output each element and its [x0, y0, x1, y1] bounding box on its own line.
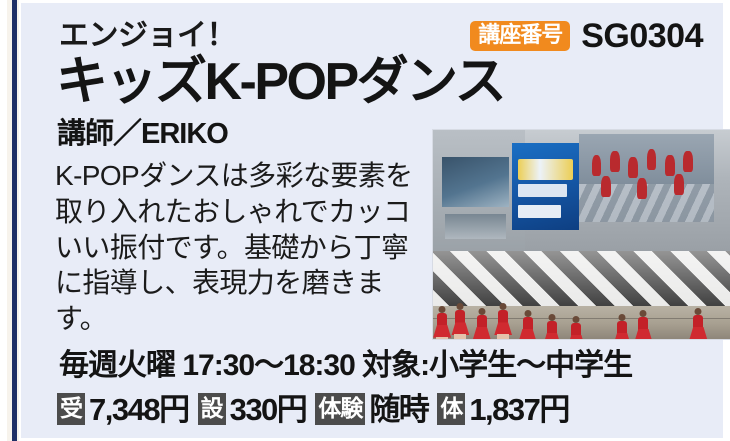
photo-screen-dancer — [683, 151, 693, 172]
course-number-group: 講座番号 SG0304 — [470, 19, 703, 53]
fee-item-2: 体験 随時 — [315, 393, 428, 425]
fee-tag: 設 — [198, 393, 226, 425]
photo-screen-dancer — [647, 149, 657, 170]
photo-glass-lower — [445, 214, 506, 239]
fee-tag: 受 — [57, 393, 85, 425]
photo-banner-headline — [518, 159, 573, 180]
photo-screen-dancer — [592, 155, 602, 176]
photo-banner-subline — [518, 184, 567, 197]
course-number-badge: 講座番号 — [470, 21, 570, 51]
course-card: エンジョイ！ 講座番号 SG0304 キッズK-POPダンス 講師／ERIKO … — [0, 0, 730, 441]
fee-item-0: 受 7,348円 — [57, 393, 189, 425]
fee-row: 受 7,348円 設 330円 体験 随時 体 1,837円 — [57, 393, 569, 425]
card-kicker: エンジョイ！ — [59, 21, 236, 51]
instructor-label: 講師／ERIKO — [57, 119, 228, 151]
fee-value: 1,837円 — [469, 394, 569, 425]
photo-screen-dancer — [637, 178, 647, 199]
left-navy-rule — [12, 0, 17, 441]
photo-screen-dancer — [674, 174, 684, 195]
photo-screen-dancer — [628, 157, 638, 178]
photo-screen-dancer — [601, 176, 611, 197]
schedule-line: 毎週火曜 17:30〜18:30 対象:小学生〜中学生 — [59, 351, 632, 381]
course-description: K-POPダンスは多彩な要素を取り入れたおしゃれでカッコいい振付です。基礎から丁… — [55, 158, 430, 337]
fee-tag: 体験 — [315, 393, 365, 425]
photo-glass-upper — [442, 157, 509, 207]
fee-item-1: 設 330円 — [198, 393, 307, 425]
card-panel: エンジョイ！ 講座番号 SG0304 キッズK-POPダンス 講師／ERIKO … — [21, 3, 723, 438]
fee-value: 7,348円 — [89, 394, 189, 425]
photo-banner-brand — [518, 205, 561, 218]
fee-value: 330円 — [230, 394, 307, 425]
photo-floor-reflection — [433, 251, 730, 307]
page-title: キッズK-POPダンス — [56, 55, 504, 110]
course-photo — [432, 129, 730, 340]
photo-screen-dancer — [610, 151, 620, 172]
fee-tag: 体 — [437, 393, 465, 425]
course-number-value: SG0304 — [581, 19, 703, 53]
fee-item-3: 体 1,837円 — [437, 393, 569, 425]
fee-value: 随時 — [369, 394, 428, 425]
photo-screen-dancer — [665, 155, 675, 176]
